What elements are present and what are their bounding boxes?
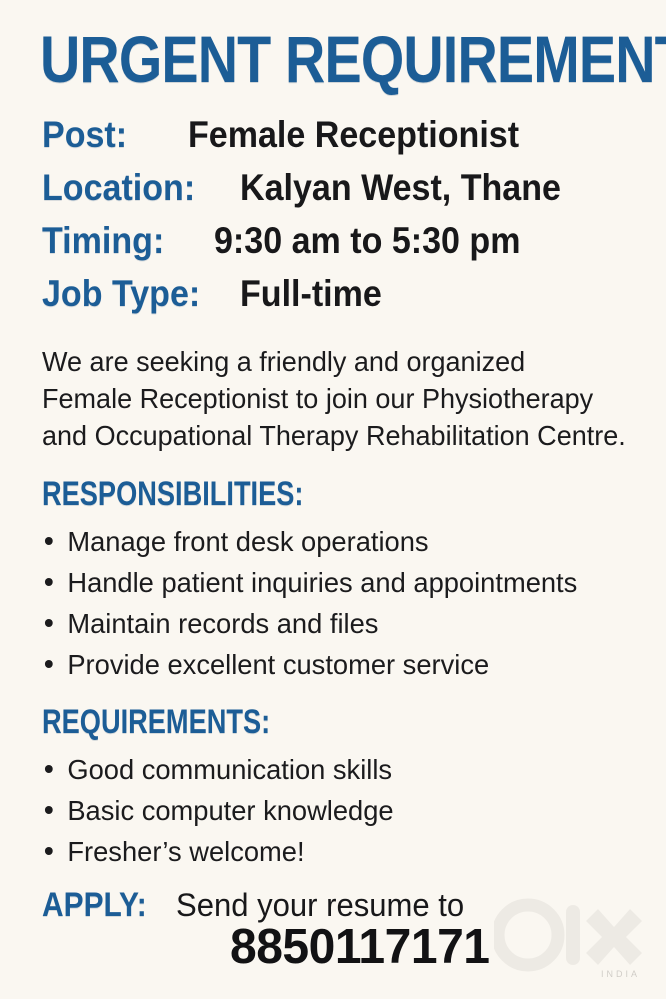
list-item: Good communication skills — [42, 752, 642, 793]
bullet-icon — [45, 578, 53, 586]
detail-row-location: Location: Kalyan West, Thane — [42, 166, 642, 219]
detail-value-location: Kalyan West, Thane — [240, 166, 561, 210]
detail-label-post: Post: — [42, 113, 145, 157]
bullet-icon — [45, 660, 53, 668]
page-title: URGENT REQUIREMENT — [40, 26, 547, 92]
list-item: Basic computer knowledge — [42, 793, 642, 834]
list-item: Provide excellent customer service — [42, 647, 642, 688]
list-item: Manage front desk operations — [42, 524, 642, 565]
detail-value-timing: 9:30 am to 5:30 pm — [214, 219, 520, 263]
intro-line-3: and Occupational Therapy Rehabilitation … — [42, 417, 631, 454]
bullet-icon — [45, 765, 53, 773]
contact-phone-number[interactable]: 8850117171 — [230, 920, 490, 974]
detail-row-job-type: Job Type: Full-time — [42, 272, 642, 322]
list-item-label: Maintain records and files — [67, 608, 378, 639]
list-item: Maintain records and files — [42, 606, 642, 647]
list-item-label: Good communication skills — [67, 754, 392, 785]
detail-label-timing: Timing: — [42, 219, 182, 263]
detail-label-location: Location: — [42, 166, 213, 210]
bullet-icon — [45, 619, 53, 627]
apply-label: APPLY: — [42, 884, 147, 926]
list-item-label: Manage front desk operations — [67, 526, 428, 557]
list-item-label: Fresher’s welcome! — [67, 836, 304, 867]
job-details-list: Post: Female Receptionist Location: Kaly… — [42, 113, 642, 322]
list-item: Handle patient inquiries and appointment… — [42, 565, 642, 606]
responsibilities-heading: RESPONSIBILITIES: — [42, 477, 303, 511]
bullet-icon — [45, 806, 53, 814]
bullet-icon — [45, 847, 53, 855]
job-advertisement-poster: URGENT REQUIREMENT Post: Female Receptio… — [0, 0, 666, 999]
intro-paragraph: We are seeking a friendly and organized … — [42, 343, 631, 454]
list-item: Fresher’s welcome! — [42, 834, 642, 875]
responsibilities-list: Manage front desk operations Handle pati… — [42, 524, 657, 688]
list-item-label: Provide excellent customer service — [67, 649, 489, 680]
detail-value-job-type: Full-time — [240, 272, 382, 316]
requirements-list: Good communication skills Basic computer… — [42, 752, 657, 875]
list-item-label: Basic computer knowledge — [67, 795, 393, 826]
detail-row-timing: Timing: 9:30 am to 5:30 pm — [42, 219, 642, 272]
intro-line-2: Female Receptionist to join our Physioth… — [42, 380, 631, 417]
intro-line-1: We are seeking a friendly and organized — [42, 343, 631, 380]
detail-row-post: Post: Female Receptionist — [42, 113, 642, 166]
requirements-heading: REQUIREMENTS: — [42, 705, 270, 739]
bullet-icon — [45, 537, 53, 545]
detail-label-job-type: Job Type: — [42, 272, 213, 316]
olx-watermark-region: INDIA — [601, 969, 640, 979]
detail-value-post: Female Receptionist — [188, 113, 519, 157]
list-item-label: Handle patient inquiries and appointment… — [67, 567, 577, 598]
